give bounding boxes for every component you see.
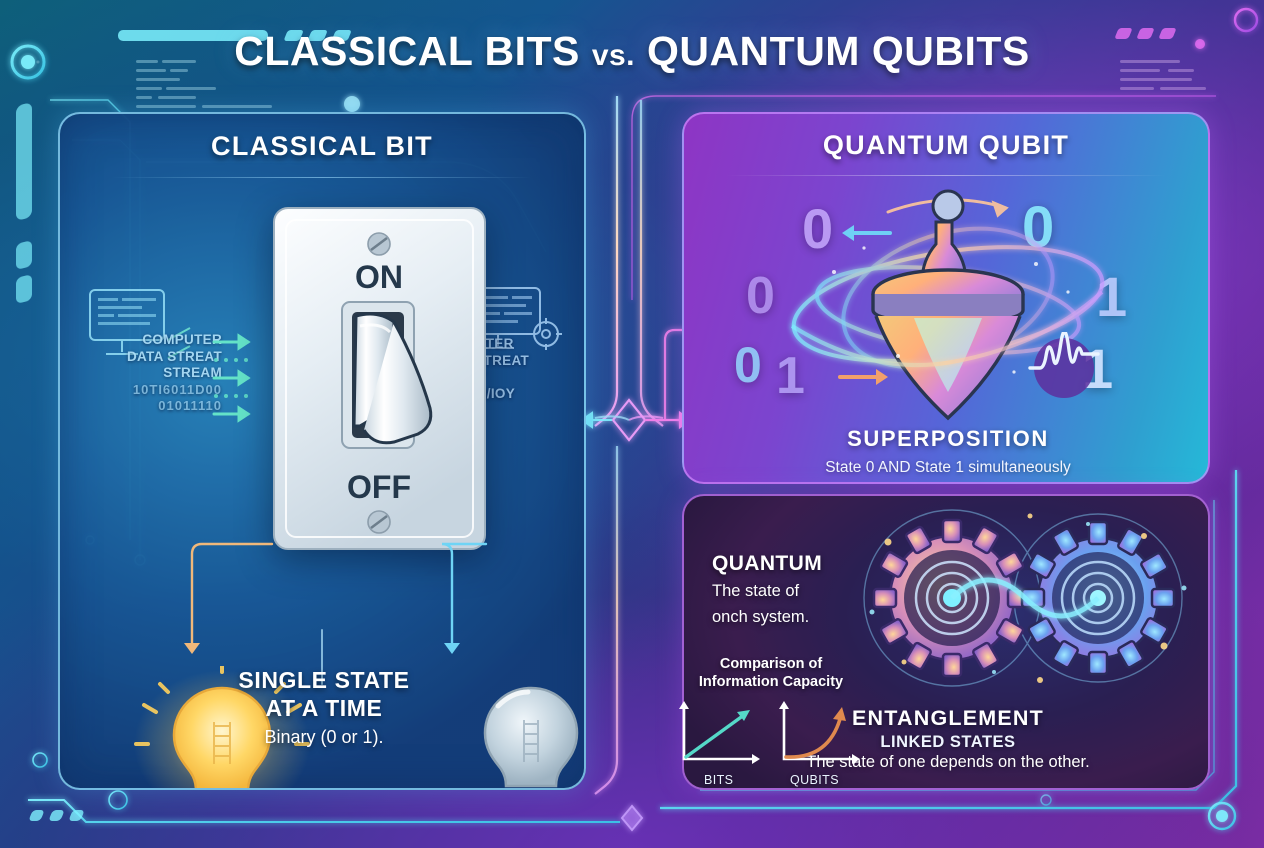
bits-trend-line	[686, 710, 750, 757]
waveform-icon	[1028, 332, 1100, 404]
page-title: CLASSICAL BITS vs. QUANTUM QUBITS	[0, 28, 1264, 75]
chart-series-label-qubits: QUBITS	[790, 773, 839, 787]
superposition-digit-0-d: 0	[734, 336, 762, 394]
chart-title-line2: Information Capacity	[668, 673, 874, 691]
classical-bit-header: CLASSICAL BIT	[60, 114, 584, 178]
single-state-note: SINGLE STATE AT A TIME Binary (0 or 1).	[208, 666, 440, 748]
superposition-caption: SUPERPOSITION State 0 AND State 1 simult…	[684, 426, 1210, 477]
svg-text:OFF: OFF	[347, 469, 411, 505]
screw-top-icon	[368, 233, 390, 255]
arrow-left-small-icon	[834, 220, 894, 246]
title-part-classical: CLASSICAL BITS	[234, 28, 580, 74]
superposition-subtitle: State 0 AND State 1 simultaneously	[684, 459, 1210, 477]
quantum-text-block: QUANTUM The state of onch system.	[712, 552, 892, 628]
infographic-root: CLASSICAL BITS vs. QUANTUM QUBITS CLASSI…	[0, 0, 1264, 848]
quantum-qubit-panel: QUANTUM QUBIT 0 0 0 1 0 1 1	[682, 112, 1210, 484]
single-state-line1: SINGLE STATE	[208, 666, 440, 694]
arrows-right-icon-group	[212, 326, 274, 432]
classical-bit-panel: CLASSICAL BIT COMPUTER DATA STREAT STREA…	[58, 112, 586, 790]
information-capacity-chart: Comparison of Information Capacity	[668, 655, 874, 795]
chart-title-line1: Comparison of	[668, 655, 874, 673]
title-part-quantum: QUANTUM QUBITS	[647, 28, 1030, 74]
single-state-line2: AT A TIME	[208, 694, 440, 722]
quantum-qubit-header: QUANTUM QUBIT	[684, 114, 1208, 176]
arrow-right-small-icon	[836, 364, 896, 390]
superposition-title: SUPERPOSITION	[684, 426, 1210, 452]
qubits-trend-curve	[786, 707, 846, 757]
chart-title: Comparison of Information Capacity	[668, 655, 874, 691]
bulb-off-icon	[446, 670, 586, 790]
data-stream-left-text: COMPUTER DATA STREAT STREAM 10TI6011D00 …	[70, 332, 222, 415]
chart-plot-area	[668, 697, 874, 769]
entangled-gears-icon	[844, 502, 1210, 702]
quantum-block-line1: The state of	[712, 580, 892, 602]
single-state-sub: Binary (0 or 1).	[208, 727, 440, 748]
title-vs: vs.	[592, 39, 635, 72]
svg-text:ON: ON	[355, 259, 403, 295]
quantum-block-line2: onch system.	[712, 606, 892, 628]
chart-series-label-bits: BITS	[704, 773, 733, 787]
quantum-block-title: QUANTUM	[712, 552, 892, 576]
light-switch[interactable]: ON OFF ON OFF	[272, 206, 487, 551]
screw-bottom-icon	[368, 511, 390, 533]
